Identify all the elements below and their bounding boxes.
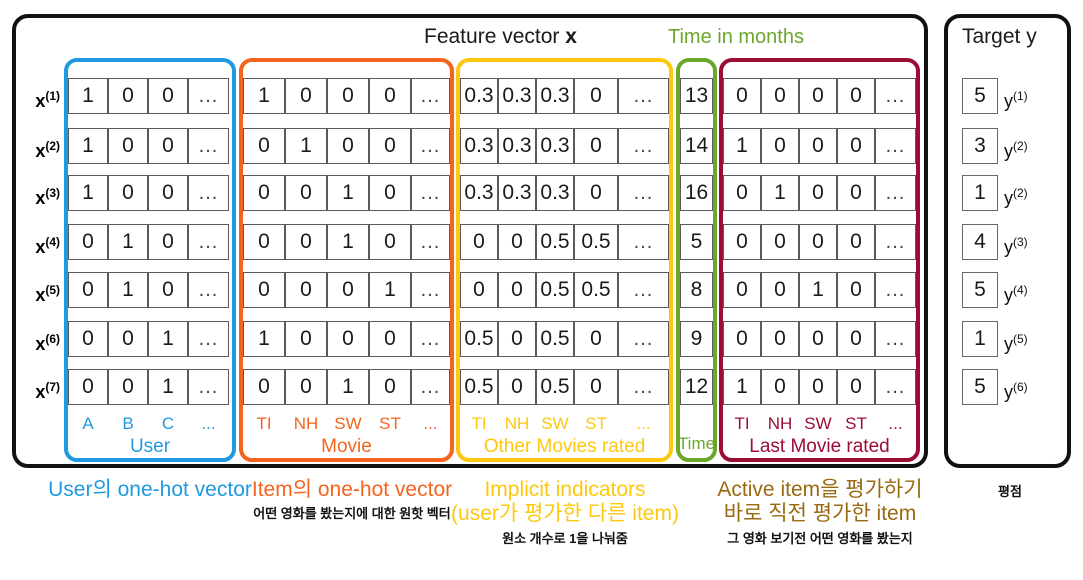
cell-last-movie-r2-c2: 0 [761, 128, 799, 164]
cell-other-movies-r6-c2: 0 [498, 321, 536, 357]
tick-user-4: ... [188, 414, 229, 434]
cell-other-movies-r4-c3: 0.5 [536, 224, 574, 260]
cell-last-movie-r2-c3: 0 [799, 128, 837, 164]
cell-other-movies-r7-c5: ... [618, 369, 669, 405]
cell-last-movie-r2-c1: 1 [723, 128, 761, 164]
cell-user-r5-c4: ... [188, 272, 229, 308]
target-value-7: 5 [962, 369, 998, 405]
cell-user-r7-c2: 0 [108, 369, 148, 405]
cell-last-movie-r1-c3: 0 [799, 78, 837, 114]
cell-user-r7-c4: ... [188, 369, 229, 405]
tick-user-3: C [148, 414, 188, 434]
cell-other-movies-r2-c2: 0.3 [498, 128, 536, 164]
cell-movie-r2-c1: 0 [243, 128, 285, 164]
group-name-last-movie: Last Movie rated [719, 436, 920, 458]
annotation-movie-sub: 어떤 영화를 봤는지에 대한 원핫 벡터 [232, 505, 472, 522]
annotation-movie-main: Item의 one-hot vector [232, 478, 472, 502]
tick-user-1: A [68, 414, 108, 434]
cell-last-movie-r5-c5: ... [875, 272, 916, 308]
cell-last-movie-r5-c2: 0 [761, 272, 799, 308]
cell-other-movies-r4-c1: 0 [460, 224, 498, 260]
cell-time-r1-c1: 13 [680, 78, 713, 114]
cell-user-r1-c4: ... [188, 78, 229, 114]
cell-other-movies-r6-c5: ... [618, 321, 669, 357]
cell-last-movie-r4-c4: 0 [837, 224, 875, 260]
cell-other-movies-r5-c3: 0.5 [536, 272, 574, 308]
tick-movie-2: NH [285, 414, 327, 434]
cell-other-movies-r2-c1: 0.3 [460, 128, 498, 164]
cell-last-movie-r7-c4: 0 [837, 369, 875, 405]
cell-movie-r1-c5: ... [411, 78, 450, 114]
annotation-other-movies: Implicit indicators (user가 평가한 다른 item) … [450, 478, 680, 547]
annotation-other-movies-line1: Implicit indicators [450, 478, 680, 502]
cell-movie-r3-c2: 0 [285, 175, 327, 211]
cell-movie-r3-c4: 0 [369, 175, 411, 211]
annotation-other-movies-line2: (user가 평가한 다른 item) [450, 502, 680, 526]
target-value-2: 3 [962, 128, 998, 164]
cell-other-movies-r3-c2: 0.3 [498, 175, 536, 211]
tick-other-movies-3: SW [536, 414, 574, 434]
tick-last-movie-4: ST [837, 414, 875, 434]
cell-other-movies-r3-c3: 0.3 [536, 175, 574, 211]
cell-user-r5-c2: 1 [108, 272, 148, 308]
cell-movie-r7-c5: ... [411, 369, 450, 405]
cell-user-r4-c2: 1 [108, 224, 148, 260]
cell-user-r6-c1: 0 [68, 321, 108, 357]
row-label-x2: x(2) [14, 128, 60, 164]
cell-user-r4-c4: ... [188, 224, 229, 260]
cell-other-movies-r7-c2: 0 [498, 369, 536, 405]
annotation-other-movies-sub: 원소 개수로 1을 나눠줌 [450, 530, 680, 547]
cell-last-movie-r7-c2: 0 [761, 369, 799, 405]
cell-time-r2-c1: 14 [680, 128, 713, 164]
row-label-x1: x(1) [14, 78, 60, 114]
cell-last-movie-r3-c1: 0 [723, 175, 761, 211]
annotation-last-movie-line1: Active item을 평가하기 [700, 478, 940, 502]
cell-movie-r5-c2: 0 [285, 272, 327, 308]
cell-user-r3-c4: ... [188, 175, 229, 211]
cell-movie-r6-c5: ... [411, 321, 450, 357]
row-label-x3: x(3) [14, 175, 60, 211]
cell-time-r7-c1: 12 [680, 369, 713, 405]
target-label-y1: y(1) [1004, 78, 1028, 114]
cell-last-movie-r7-c5: ... [875, 369, 916, 405]
cell-other-movies-r3-c5: ... [618, 175, 669, 211]
cell-last-movie-r4-c2: 0 [761, 224, 799, 260]
target-value-6: 1 [962, 321, 998, 357]
cell-user-r7-c1: 0 [68, 369, 108, 405]
cell-other-movies-r4-c2: 0 [498, 224, 536, 260]
row-label-x6: x(6) [14, 321, 60, 357]
target-value-3: 1 [962, 175, 998, 211]
cell-movie-r1-c2: 0 [285, 78, 327, 114]
annotation-movie: Item의 one-hot vector 어떤 영화를 봤는지에 대한 원핫 벡… [232, 478, 472, 522]
tick-movie-5: ... [411, 414, 450, 434]
cell-last-movie-r5-c1: 0 [723, 272, 761, 308]
cell-user-r3-c2: 0 [108, 175, 148, 211]
cell-last-movie-r2-c5: ... [875, 128, 916, 164]
cell-other-movies-r6-c1: 0.5 [460, 321, 498, 357]
cell-last-movie-r1-c4: 0 [837, 78, 875, 114]
cell-user-r7-c3: 1 [148, 369, 188, 405]
cell-movie-r3-c1: 0 [243, 175, 285, 211]
cell-last-movie-r3-c2: 1 [761, 175, 799, 211]
annotation-target-sub: 평점 [950, 481, 1070, 500]
cell-last-movie-r6-c2: 0 [761, 321, 799, 357]
cell-user-r6-c2: 0 [108, 321, 148, 357]
target-label-y2: y(2) [1004, 128, 1028, 164]
tick-other-movies-5: ... [618, 414, 669, 434]
cell-other-movies-r5-c2: 0 [498, 272, 536, 308]
cell-other-movies-r3-c4: 0 [574, 175, 618, 211]
target-value-5: 5 [962, 272, 998, 308]
cell-last-movie-r5-c3: 1 [799, 272, 837, 308]
cell-user-r1-c3: 0 [148, 78, 188, 114]
tick-movie-4: ST [369, 414, 411, 434]
cell-last-movie-r4-c1: 0 [723, 224, 761, 260]
cell-other-movies-r4-c5: ... [618, 224, 669, 260]
cell-movie-r5-c4: 1 [369, 272, 411, 308]
cell-movie-r2-c4: 0 [369, 128, 411, 164]
cell-user-r2-c2: 0 [108, 128, 148, 164]
tick-other-movies-1: TI [460, 414, 498, 434]
cell-other-movies-r2-c3: 0.3 [536, 128, 574, 164]
target-value-1: 5 [962, 78, 998, 114]
cell-time-r6-c1: 9 [680, 321, 713, 357]
group-name-other-movies: Other Movies rated [456, 436, 673, 458]
cell-last-movie-r2-c4: 0 [837, 128, 875, 164]
cell-user-r6-c4: ... [188, 321, 229, 357]
cell-last-movie-r6-c5: ... [875, 321, 916, 357]
cell-movie-r3-c5: ... [411, 175, 450, 211]
target-label-y3: y(2) [1004, 175, 1028, 211]
cell-other-movies-r3-c1: 0.3 [460, 175, 498, 211]
target-label-y4: y(3) [1004, 224, 1028, 260]
target-value-4: 4 [962, 224, 998, 260]
group-name-user: User [64, 436, 236, 458]
cell-last-movie-r1-c2: 0 [761, 78, 799, 114]
annotation-last-movie: Active item을 평가하기 바로 직전 평가한 item 그 영화 보기… [700, 478, 940, 547]
cell-movie-r6-c1: 1 [243, 321, 285, 357]
cell-movie-r1-c3: 0 [327, 78, 369, 114]
cell-other-movies-r1-c1: 0.3 [460, 78, 498, 114]
row-label-x7: x(7) [14, 369, 60, 405]
row-label-x4: x(4) [14, 224, 60, 260]
target-label-y5: y(4) [1004, 272, 1028, 308]
tick-last-movie-1: TI [723, 414, 761, 434]
cell-last-movie-r5-c4: 0 [837, 272, 875, 308]
tick-last-movie-2: NH [761, 414, 799, 434]
cell-other-movies-r7-c3: 0.5 [536, 369, 574, 405]
cell-movie-r5-c5: ... [411, 272, 450, 308]
tick-movie-3: SW [327, 414, 369, 434]
cell-user-r2-c3: 0 [148, 128, 188, 164]
cell-last-movie-r4-c5: ... [875, 224, 916, 260]
cell-time-r4-c1: 5 [680, 224, 713, 260]
cell-other-movies-r7-c4: 0 [574, 369, 618, 405]
cell-other-movies-r7-c1: 0.5 [460, 369, 498, 405]
cell-movie-r2-c3: 0 [327, 128, 369, 164]
group-name-movie: Movie [239, 436, 454, 458]
cell-movie-r2-c2: 1 [285, 128, 327, 164]
cell-user-r5-c3: 0 [148, 272, 188, 308]
tick-user-2: B [108, 414, 148, 434]
cell-other-movies-r1-c3: 0.3 [536, 78, 574, 114]
cell-other-movies-r2-c4: 0 [574, 128, 618, 164]
tick-last-movie-5: ... [875, 414, 916, 434]
annotation-last-movie-line2: 바로 직전 평가한 item [700, 502, 940, 526]
row-label-x5: x(5) [14, 272, 60, 308]
cell-other-movies-r4-c4: 0.5 [574, 224, 618, 260]
cell-other-movies-r2-c5: ... [618, 128, 669, 164]
cell-movie-r5-c1: 0 [243, 272, 285, 308]
cell-movie-r7-c2: 0 [285, 369, 327, 405]
cell-movie-r5-c3: 0 [327, 272, 369, 308]
cell-movie-r4-c2: 0 [285, 224, 327, 260]
annotation-last-movie-sub: 그 영화 보기전 어떤 영화를 봤는지 [700, 530, 940, 547]
cell-movie-r7-c3: 1 [327, 369, 369, 405]
cell-movie-r7-c4: 0 [369, 369, 411, 405]
cell-last-movie-r3-c3: 0 [799, 175, 837, 211]
cell-last-movie-r3-c5: ... [875, 175, 916, 211]
cell-last-movie-r7-c3: 0 [799, 369, 837, 405]
target-label-y6: y(5) [1004, 321, 1028, 357]
cell-user-r3-c3: 0 [148, 175, 188, 211]
cell-user-r4-c3: 0 [148, 224, 188, 260]
cell-last-movie-r1-c5: ... [875, 78, 916, 114]
cell-user-r1-c2: 0 [108, 78, 148, 114]
cell-user-r2-c4: ... [188, 128, 229, 164]
cell-movie-r1-c1: 1 [243, 78, 285, 114]
cell-last-movie-r6-c1: 0 [723, 321, 761, 357]
cell-movie-r4-c5: ... [411, 224, 450, 260]
cell-other-movies-r6-c4: 0 [574, 321, 618, 357]
cell-user-r3-c1: 1 [68, 175, 108, 211]
cell-last-movie-r3-c4: 0 [837, 175, 875, 211]
group-name-time: Time [676, 434, 717, 454]
cell-user-r4-c1: 0 [68, 224, 108, 260]
cell-other-movies-r1-c2: 0.3 [498, 78, 536, 114]
cell-user-r6-c3: 1 [148, 321, 188, 357]
cell-time-r3-c1: 16 [680, 175, 713, 211]
cell-movie-r6-c4: 0 [369, 321, 411, 357]
cell-user-r1-c1: 1 [68, 78, 108, 114]
cell-time-r5-c1: 8 [680, 272, 713, 308]
cell-other-movies-r1-c5: ... [618, 78, 669, 114]
cell-last-movie-r6-c3: 0 [799, 321, 837, 357]
cell-last-movie-r4-c3: 0 [799, 224, 837, 260]
cell-other-movies-r5-c5: ... [618, 272, 669, 308]
target-label-y7: y(6) [1004, 369, 1028, 405]
tick-movie-1: TI [243, 414, 285, 434]
cell-last-movie-r7-c1: 1 [723, 369, 761, 405]
cell-other-movies-r1-c4: 0 [574, 78, 618, 114]
cell-user-r2-c1: 1 [68, 128, 108, 164]
cell-last-movie-r6-c4: 0 [837, 321, 875, 357]
cell-movie-r4-c4: 0 [369, 224, 411, 260]
annotation-target: 평점 [950, 481, 1070, 500]
cell-movie-r2-c5: ... [411, 128, 450, 164]
cell-movie-r4-c1: 0 [243, 224, 285, 260]
tick-other-movies-2: NH [498, 414, 536, 434]
cell-movie-r7-c1: 0 [243, 369, 285, 405]
cell-movie-r4-c3: 1 [327, 224, 369, 260]
cell-movie-r6-c2: 0 [285, 321, 327, 357]
cell-last-movie-r1-c1: 0 [723, 78, 761, 114]
cell-movie-r6-c3: 0 [327, 321, 369, 357]
tick-last-movie-3: SW [799, 414, 837, 434]
cell-other-movies-r6-c3: 0.5 [536, 321, 574, 357]
cell-movie-r1-c4: 0 [369, 78, 411, 114]
cell-other-movies-r5-c4: 0.5 [574, 272, 618, 308]
tick-other-movies-4: ST [574, 414, 618, 434]
cell-user-r5-c1: 0 [68, 272, 108, 308]
cell-movie-r3-c3: 1 [327, 175, 369, 211]
cell-other-movies-r5-c1: 0 [460, 272, 498, 308]
